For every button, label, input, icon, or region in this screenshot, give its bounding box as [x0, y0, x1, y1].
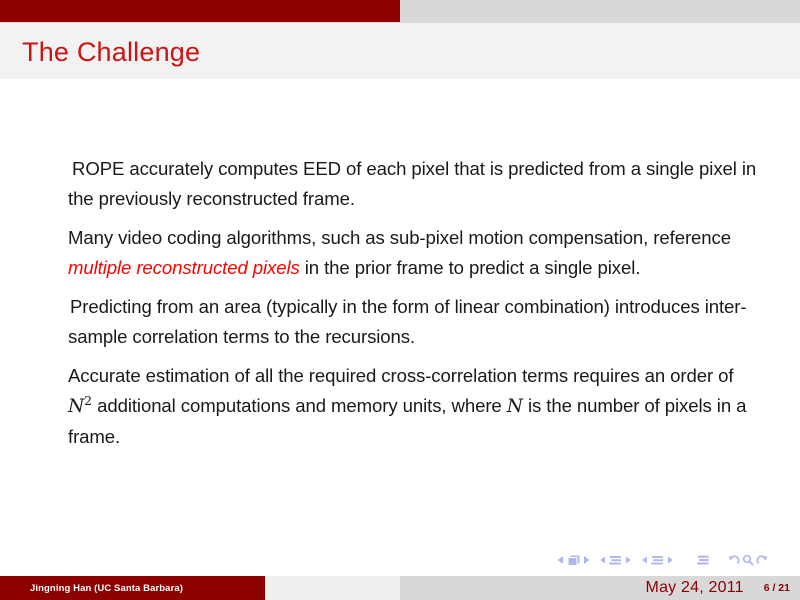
footer-page-number: 6 / 21: [764, 582, 790, 594]
prev-subsection-icon[interactable]: [640, 553, 649, 567]
slide-body: ROPE accurately computes EED of each pix…: [0, 79, 800, 549]
paragraph-4-text-part-2: additional computations and memory units…: [92, 395, 507, 416]
search-icon[interactable]: [741, 553, 755, 567]
math-exponent-2: 2: [84, 393, 92, 408]
top-decoration-bar: [0, 0, 800, 22]
paragraph-4-text-part-1: Accurate estimation of all the required …: [68, 365, 733, 386]
page-title: The Challenge: [22, 37, 200, 67]
next-subsection-icon[interactable]: [666, 553, 675, 567]
top-bar-red-block: [0, 0, 400, 22]
footer-author-block: Jingning Han (UC Santa Barbara): [0, 576, 265, 600]
frame-icon[interactable]: [607, 553, 624, 567]
paragraph-4: Accurate estimation of all the required …: [68, 361, 758, 452]
paragraph-3: Predicting from an area (typically in th…: [68, 292, 758, 352]
footer-author-label: Jingning Han (UC Santa Barbara): [0, 583, 183, 594]
paragraph-2-text-part-2: in the prior frame to predict a single p…: [300, 257, 641, 278]
prev-frame-icon[interactable]: [598, 553, 607, 567]
footer-info-block: May 24, 2011 6 / 21: [400, 576, 800, 600]
footer-spacer-block: [265, 576, 400, 600]
subsection-icon[interactable]: [649, 553, 666, 567]
math-variable-n-2: N: [507, 396, 523, 417]
slide-title-band: The Challenge: [0, 22, 800, 79]
prev-slide-icon[interactable]: [556, 553, 565, 567]
slide-footer: Jingning Han (UC Santa Barbara) May 24, …: [0, 576, 800, 600]
footer-date-label: May 24, 2011: [646, 579, 744, 597]
beamer-navigation-bar[interactable]: [556, 550, 782, 570]
paragraph-2-text-part-1: Many video coding algorithms, such as su…: [68, 227, 736, 248]
paragraph-3-text: Predicting from an area (typically in th…: [68, 296, 746, 347]
document-icon[interactable]: [695, 553, 711, 567]
paragraph-1-text: ROPE accurately computes EED of each pix…: [68, 158, 756, 209]
paragraph-2: Many video coding algorithms, such as su…: [68, 223, 758, 283]
math-variable-n-1: N: [68, 396, 84, 417]
paragraph-2-highlight: multiple reconstructed pixels: [68, 257, 300, 278]
paragraph-1: ROPE accurately computes EED of each pix…: [68, 154, 758, 214]
back-icon[interactable]: [727, 553, 741, 567]
top-bar-gray-block: [400, 0, 800, 22]
slide-icon[interactable]: [565, 553, 582, 567]
forward-icon[interactable]: [755, 553, 769, 567]
slide-content: ROPE accurately computes EED of each pix…: [68, 154, 768, 461]
next-slide-icon[interactable]: [582, 553, 591, 567]
next-frame-icon[interactable]: [624, 553, 633, 567]
